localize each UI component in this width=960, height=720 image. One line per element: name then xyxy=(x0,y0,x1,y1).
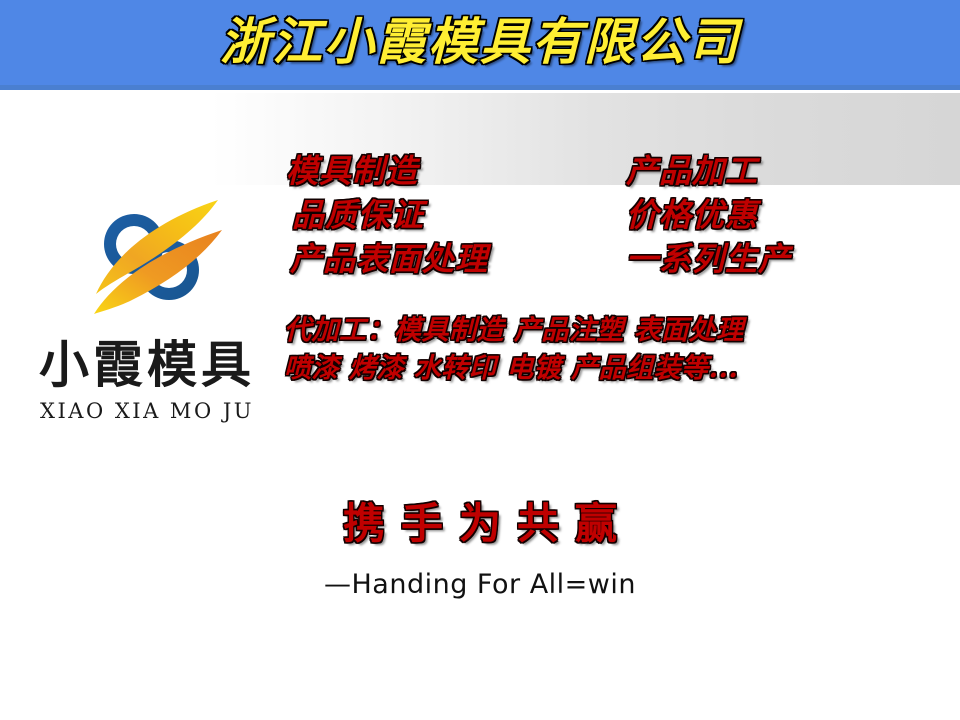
header-banner-bottom-edge xyxy=(0,85,960,90)
oem-line: 喷漆 烤漆 水转印 电镀 产品组装等... xyxy=(284,350,914,388)
slogan-block: 携手为共赢 xyxy=(0,496,960,552)
logo-pinyin-name: XIAO XIA MO JU xyxy=(22,398,272,424)
service-item: 品质保证 xyxy=(292,194,424,236)
service-item: 一系列生产 xyxy=(626,238,791,280)
oem-line: 代加工：模具制造 产品注塑 表面处理 xyxy=(284,312,914,350)
swoosh-logo-icon xyxy=(72,178,232,338)
service-item: 价格优惠 xyxy=(626,194,758,236)
service-item: 模具制造 xyxy=(286,150,418,192)
logo-chinese-name: 小霞模具 xyxy=(22,336,272,394)
presentation-slide: 浙江小霞模具有限公司 xyxy=(0,0,960,720)
service-row: 品质保证 价格优惠 xyxy=(286,194,906,238)
company-logo: 小霞模具 XIAO XIA MO JU xyxy=(22,178,272,430)
service-item: 产品加工 xyxy=(626,150,758,192)
service-highlights: 模具制造 产品加工 品质保证 价格优惠 产品表面处理 一系列生产 xyxy=(286,150,906,280)
slogan-chinese: 携手为共赢 xyxy=(0,496,960,552)
company-title: 浙江小霞模具有限公司 xyxy=(0,10,960,74)
service-row: 产品表面处理 一系列生产 xyxy=(286,238,906,282)
oem-services-paragraph: 代加工：模具制造 产品注塑 表面处理 喷漆 烤漆 水转印 电镀 产品组装等... xyxy=(284,312,914,388)
slogan-english: —Handing For All=win xyxy=(0,568,960,602)
service-row: 模具制造 产品加工 xyxy=(286,150,906,194)
service-item: 产品表面处理 xyxy=(290,238,488,280)
